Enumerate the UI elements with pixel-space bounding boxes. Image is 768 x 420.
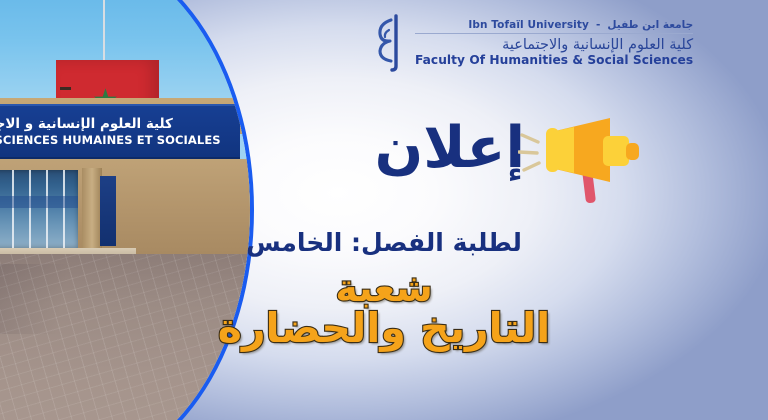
faculty-signboard: كلية العلوم الإنسانية و الاجتماعية FACUL…	[0, 104, 240, 159]
logo-separator: -	[596, 19, 600, 31]
logo-faculty-en: Faculty Of Humanities & Social Sciences	[415, 53, 693, 67]
megaphone-icon	[518, 112, 644, 204]
headline-row: إعلان	[350, 112, 680, 204]
logo-university-en: Ibn Tofaïl University	[468, 19, 589, 31]
signboard-french-text: FACULTÉ DES SCIENCES HUMAINES ET SOCIALE…	[0, 133, 221, 147]
logo-divider	[415, 33, 693, 34]
university-logo: Ibn Tofaïl University - جامعة ابن طفيل ك…	[376, 14, 693, 72]
announcement-poster: ★ ★ كلية العلوم الإنسانية و الاجتماعية F…	[0, 0, 768, 420]
flag-pole	[103, 0, 105, 64]
signboard-arabic-text: كلية العلوم الإنسانية و الاجتماعية	[0, 116, 173, 132]
logo-university-ar: جامعة ابن طفيل	[607, 19, 693, 31]
field-name: التاريخ والحضارة	[0, 304, 768, 352]
logo-faculty-ar: كلية العلوم الإنسانية والاجتماعية	[415, 37, 693, 53]
panel-notch	[60, 87, 71, 90]
announcement-headline: إعلان	[375, 120, 525, 177]
ibn-tofail-calligraphy-mark-icon	[376, 14, 406, 72]
semester-line: لطلبة الفصل: الخامس	[0, 228, 768, 257]
faculty-building-photo: ★ ★ كلية العلوم الإنسانية و الاجتماعية F…	[0, 0, 254, 420]
